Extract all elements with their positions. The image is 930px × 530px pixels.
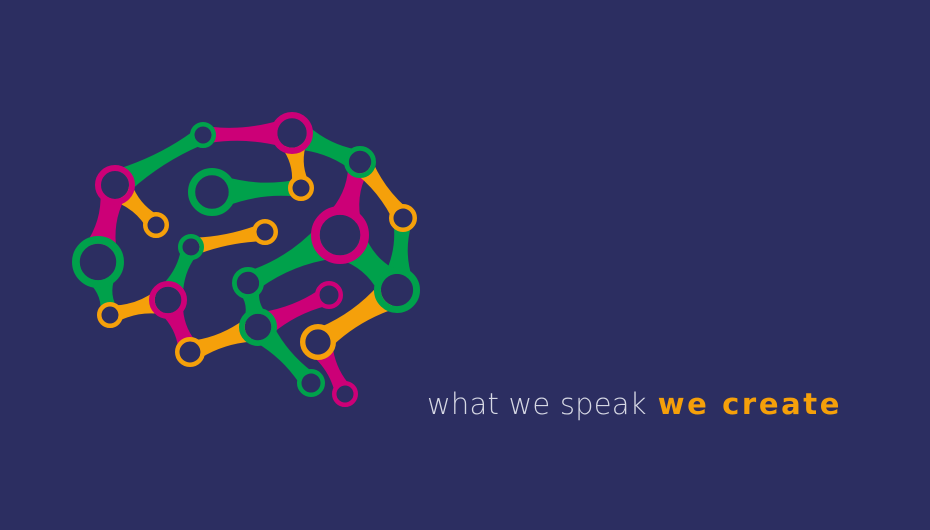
node-magenta-lower-left-hole <box>155 287 182 314</box>
tagline: what we speak we create <box>427 390 842 428</box>
node-orange-far-left-hole <box>102 307 119 324</box>
tagline-light-text: what we speak <box>427 390 647 419</box>
node-green-center-small-hole <box>183 239 200 256</box>
node-magenta-top-hole <box>277 118 306 147</box>
node-green-upper-middle-hole <box>195 175 229 209</box>
node-green-large-left-hole <box>80 244 116 280</box>
logo-link-n1-n2 <box>210 120 281 146</box>
node-green-top-left-hole <box>195 127 212 144</box>
neural-brain-logo <box>50 90 440 420</box>
node-orange-left-upper-hole <box>148 217 165 234</box>
node-green-center-hole <box>237 272 259 294</box>
node-green-right-lower-hole <box>381 274 413 306</box>
node-orange-far-right-hole <box>394 209 413 228</box>
tagline-accent-text: we create <box>658 390 842 419</box>
node-orange-center-upper-hole <box>257 224 274 241</box>
node-magenta-bottom-small-hole <box>337 386 354 403</box>
node-magenta-large-right-hole <box>320 215 361 256</box>
node-orange-bottom-left-hole <box>180 342 201 363</box>
logo-link-n11-n12 <box>196 226 259 254</box>
node-magenta-left-upper-hole <box>101 171 129 199</box>
node-orange-upper-right-hole <box>293 180 310 197</box>
splash-screen: what we speak we create <box>0 0 930 530</box>
node-green-top-right-hole <box>349 151 371 173</box>
node-green-bottom-center-hole <box>245 314 272 341</box>
brain-logo-svg <box>50 90 440 420</box>
node-magenta-right-mid-hole <box>320 286 339 305</box>
node-green-bottom-hole <box>302 374 321 393</box>
node-orange-bottom-right-hole <box>305 329 330 354</box>
